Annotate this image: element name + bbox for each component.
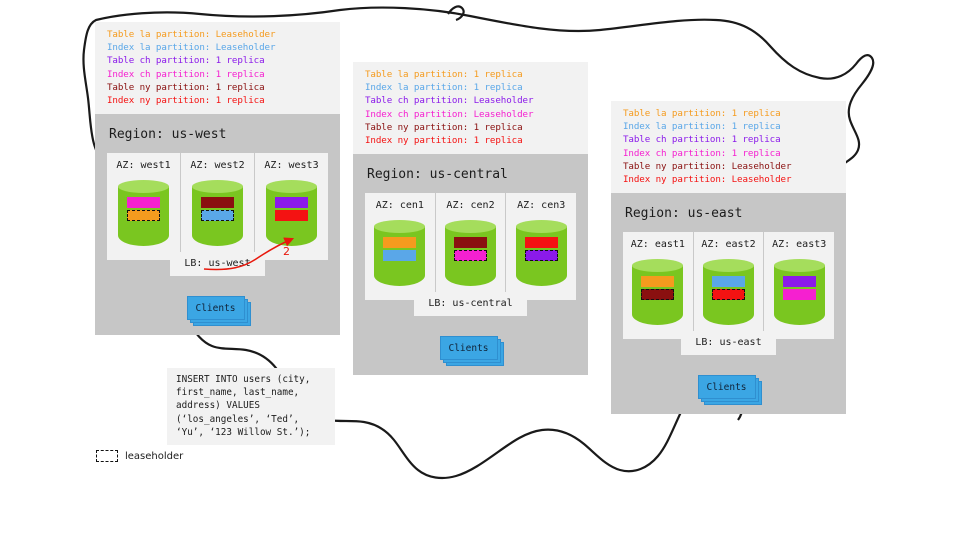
legend-line: Table la partition: 1 replica xyxy=(623,107,836,120)
replica-bars xyxy=(632,276,683,300)
replica-bars xyxy=(118,197,169,221)
clients-card-us-central[interactable]: Clients xyxy=(440,336,502,361)
legend-line: Index ch partition: Leaseholder xyxy=(365,108,578,121)
replica-bar xyxy=(525,250,558,261)
clients-card-us-west[interactable]: Clients xyxy=(187,296,249,321)
partition-legend-us-central: Table la partition: 1 replica Index la p… xyxy=(353,62,588,154)
replica-bar xyxy=(127,210,160,221)
leaseholder-key: leaseholder xyxy=(96,450,183,462)
legend-line: Index ch partition: 1 replica xyxy=(107,68,330,81)
clients-label[interactable]: Clients xyxy=(698,375,756,399)
az-label: AZ: west1 xyxy=(116,160,170,171)
database-cylinder-east3[interactable] xyxy=(774,259,825,330)
legend-line: Table ny partition: 1 replica xyxy=(107,81,330,94)
az-label: AZ: west2 xyxy=(190,160,244,171)
region-cluster-us-west: Table la partition: Leaseholder Index la… xyxy=(95,22,340,335)
legend-line: Table ch partition: 1 replica xyxy=(623,133,836,146)
legend-line: Table ny partition: Leaseholder xyxy=(623,160,836,173)
az-cell-west1[interactable]: AZ: west1 xyxy=(107,153,181,260)
legend-line: Index ny partition: Leaseholder xyxy=(623,173,836,186)
region-title: Region: us-central xyxy=(367,167,576,182)
legend-line: Index la partition: Leaseholder xyxy=(107,41,330,54)
replica-bar xyxy=(712,276,745,287)
az-label: AZ: west3 xyxy=(264,160,318,171)
replica-bars xyxy=(774,276,825,300)
legend-line: Index ch partition: 1 replica xyxy=(623,147,836,160)
lb-wrap-us-central: LB: us-central xyxy=(365,300,576,316)
az-cell-east1[interactable]: AZ: east1 xyxy=(623,232,694,339)
replica-bars xyxy=(445,237,496,261)
replica-bar xyxy=(383,250,416,261)
replica-bar xyxy=(783,276,816,287)
dashed-box-icon xyxy=(96,450,118,462)
az-cell-cen2[interactable]: AZ: cen2 xyxy=(436,193,507,300)
region-panel-us-central: Region: us-central AZ: cen1 AZ: cen2 xyxy=(353,154,588,375)
database-cylinder-cen3[interactable] xyxy=(516,220,567,291)
legend-line: Index la partition: 1 replica xyxy=(365,81,578,94)
replica-bar xyxy=(525,237,558,248)
replica-bar xyxy=(641,289,674,300)
replica-bar xyxy=(383,237,416,248)
load-balancer-us-central[interactable]: LB: us-central xyxy=(414,292,526,316)
annotation-label-2: 2 xyxy=(283,245,290,258)
region-cluster-us-central: Table la partition: 1 replica Index la p… xyxy=(353,62,588,375)
legend-line: Index ny partition: 1 replica xyxy=(107,94,330,107)
replica-bar xyxy=(783,289,816,300)
leaseholder-key-label: leaseholder xyxy=(125,451,183,462)
az-row-us-central: AZ: cen1 AZ: cen2 xyxy=(365,193,576,300)
clients-label[interactable]: Clients xyxy=(440,336,498,360)
load-balancer-us-east[interactable]: LB: us-east xyxy=(681,331,775,355)
replica-bar xyxy=(712,289,745,300)
lb-wrap-us-east: LB: us-east xyxy=(623,339,834,355)
replica-bar xyxy=(454,237,487,248)
region-cluster-us-east: Table la partition: 1 replica Index la p… xyxy=(611,101,846,414)
replica-bar xyxy=(201,197,234,208)
database-cylinder-cen1[interactable] xyxy=(374,220,425,291)
az-label: AZ: cen3 xyxy=(517,200,565,211)
az-cell-east2[interactable]: AZ: east2 xyxy=(694,232,765,339)
replica-bar xyxy=(641,276,674,287)
partition-legend-us-west: Table la partition: Leaseholder Index la… xyxy=(95,22,340,114)
replica-bar xyxy=(127,197,160,208)
database-cylinder-east2[interactable] xyxy=(703,259,754,330)
legend-line: Index ny partition: 1 replica xyxy=(365,134,578,147)
region-title: Region: us-east xyxy=(625,206,834,221)
replica-bars xyxy=(703,276,754,300)
az-label: AZ: east2 xyxy=(701,239,755,250)
sql-insert-note: INSERT INTO users (city, first_name, las… xyxy=(167,368,335,445)
clients-wrap-us-central: Clients xyxy=(365,336,576,361)
legend-line: Table ch partition: 1 replica xyxy=(107,54,330,67)
replica-bars xyxy=(374,237,425,261)
database-cylinder-east1[interactable] xyxy=(632,259,683,330)
database-cylinder-cen2[interactable] xyxy=(445,220,496,291)
legend-line: Table ny partition: 1 replica xyxy=(365,121,578,134)
clients-wrap-us-east: Clients xyxy=(623,375,834,400)
az-row-us-east: AZ: east1 AZ: east2 xyxy=(623,232,834,339)
az-label: AZ: cen1 xyxy=(376,200,424,211)
replica-bar xyxy=(275,197,308,208)
az-label: AZ: cen2 xyxy=(446,200,494,211)
az-cell-east3[interactable]: AZ: east3 xyxy=(764,232,834,339)
clients-label[interactable]: Clients xyxy=(187,296,245,320)
legend-line: Index la partition: 1 replica xyxy=(623,120,836,133)
legend-line: Table la partition: Leaseholder xyxy=(107,28,330,41)
az-cell-cen3[interactable]: AZ: cen3 xyxy=(506,193,576,300)
annotation-arrow-2 xyxy=(200,215,330,285)
diagram-canvas: Table la partition: Leaseholder Index la… xyxy=(0,0,960,540)
az-cell-cen1[interactable]: AZ: cen1 xyxy=(365,193,436,300)
legend-line: Table la partition: 1 replica xyxy=(365,68,578,81)
az-label: AZ: east1 xyxy=(631,239,685,250)
region-title: Region: us-west xyxy=(109,127,328,142)
clients-card-us-east[interactable]: Clients xyxy=(698,375,760,400)
replica-bar xyxy=(454,250,487,261)
clients-wrap-us-west: Clients xyxy=(107,296,328,321)
replica-bars xyxy=(516,237,567,261)
region-panel-us-east: Region: us-east AZ: east1 AZ: east2 xyxy=(611,193,846,414)
database-cylinder-west1[interactable] xyxy=(118,180,169,251)
legend-line: Table ch partition: Leaseholder xyxy=(365,94,578,107)
az-label: AZ: east3 xyxy=(772,239,826,250)
partition-legend-us-east: Table la partition: 1 replica Index la p… xyxy=(611,101,846,193)
